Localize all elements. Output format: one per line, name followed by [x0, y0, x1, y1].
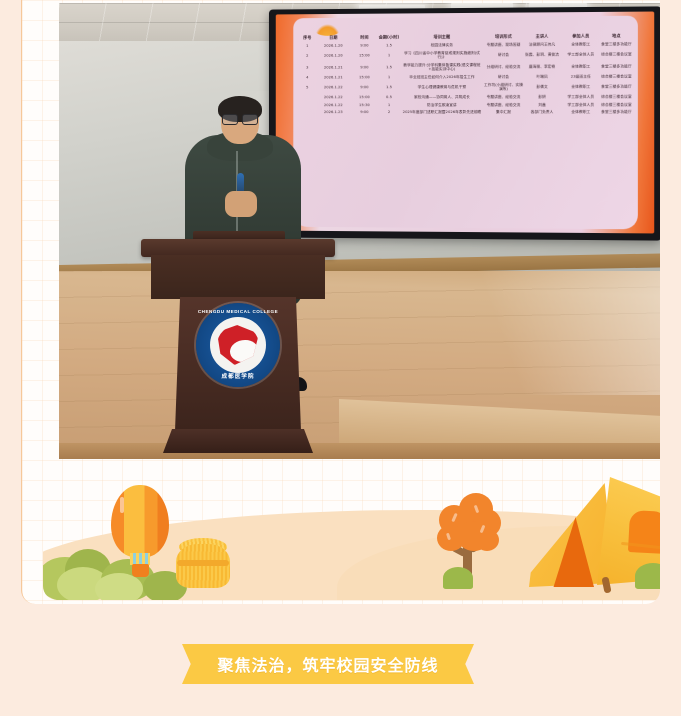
cell-location: 综合楼三楼会议室 [601, 101, 632, 109]
cell-speaker: 各部门负责人 [524, 109, 561, 117]
cell-no: 5 [299, 82, 315, 94]
cell-attendees: 全体教职工 [561, 61, 602, 73]
screen-surface: 序号 日期 时间 会期(小时) 培训主题 培训形式 主讲人 参加人员 地点 [276, 12, 654, 234]
grass-tuft-icon [635, 563, 660, 589]
cell-date: 2026.1.21 [315, 62, 351, 74]
cell-topic: 2025年度部门述职汇报暨2026年表彰先进前瞻 [401, 109, 484, 117]
section-title-block: 聚焦法治，筑牢校园安全防线 PART 1 [0, 604, 681, 716]
cell-date: 2026.1.21 [315, 74, 351, 82]
th-hours: 会期(小时) [378, 33, 401, 42]
content-card: 序号 日期 时间 会期(小时) 培训主题 培训形式 主讲人 参加人员 地点 [21, 0, 660, 604]
podium-mid [151, 255, 325, 299]
cell-form: 专题讲座、经验交流 [483, 101, 523, 109]
cell-attendees: 学工部全体人员 [561, 93, 602, 101]
haystack-body [176, 544, 230, 588]
cell-speaker: 唐海丽、李宏艳 [524, 61, 561, 73]
table-row: 2026.1.23 9:00 2 2025年度部门述职汇报暨2026年表彰先进前… [299, 109, 632, 117]
cell-form: 集中汇报 [483, 109, 523, 117]
cell-speaker: 叶琳凤 [524, 73, 561, 81]
cell-speaker: 张霞、彭玥、黄俊洁 [524, 49, 561, 61]
logo-english-text: CHENGDU MEDICAL COLLEGE [196, 309, 280, 314]
haystack-band [177, 560, 229, 566]
cell-time: 15:30 [351, 101, 377, 109]
cell-time: 9:00 [351, 62, 377, 74]
grass-tuft-icon [443, 567, 473, 589]
podium-base [163, 429, 313, 453]
logo-inner-disc [210, 317, 266, 373]
balloon-basket [132, 564, 149, 577]
training-schedule-table: 序号 日期 时间 会期(小时) 培训主题 培训形式 主讲人 参加人员 地点 [299, 32, 632, 117]
cell-speaker: 刘鑫 [524, 101, 561, 109]
cell-attendees: 全体教职工 [561, 81, 602, 93]
cell-form: 专题讲座、经验交流 [483, 93, 523, 101]
cell-hours: 1.5 [378, 42, 401, 50]
cell-date: 2026.1.22 [315, 94, 351, 102]
th-attendees: 参加人员 [561, 32, 602, 41]
table-row: 3 2026.1.21 9:00 1.5 教学能力提升:分学科集体备课实践(语文… [299, 61, 632, 74]
cell-speaker: 彭妍 [524, 93, 561, 101]
cell-hours: 1.5 [378, 81, 401, 93]
lecture-photo: 序号 日期 时间 会期(小时) 培训主题 培训形式 主讲人 参加人员 地点 [59, 3, 660, 459]
poster-page: 序号 日期 时间 会期(小时) 培训主题 培训形式 主讲人 参加人员 地点 [0, 0, 681, 716]
th-date: 日期 [315, 34, 351, 43]
cell-form: 研讨会 [483, 73, 523, 81]
tree-foliage [475, 529, 499, 551]
cell-attendees: 学工部全体人员 [561, 101, 602, 109]
podium: CHENGDU MEDICAL COLLEGE 成都医学院 [141, 239, 335, 459]
th-no: 序号 [299, 34, 315, 43]
glasses-icon [222, 114, 258, 123]
section-heading: 聚焦法治，筑牢校园安全防线 [182, 644, 474, 684]
cell-location: 综合楼三楼会议室 [601, 93, 632, 101]
cell-hours: 1 [378, 50, 401, 62]
cell-time: 15:00 [351, 74, 377, 82]
th-speaker: 主讲人 [524, 32, 561, 41]
balloon-envelope [111, 485, 169, 557]
cell-speaker: 彭倩文 [524, 81, 561, 93]
cell-time: 9:00 [351, 109, 377, 117]
floor-sheen [460, 271, 660, 395]
cell-topic: 学生心理健康教育与危机干预 [401, 81, 484, 93]
th-location: 地点 [601, 32, 632, 41]
cell-no: 3 [299, 62, 315, 74]
cell-location: 食堂三楼多功能厅 [601, 81, 632, 93]
logo-chinese-text: 成都医学院 [196, 372, 280, 380]
cell-topic: 防治学生欺凌宣讲 [401, 101, 484, 109]
cell-attendees: 全体教职工 [561, 41, 602, 49]
balloon-highlight [120, 497, 124, 513]
hot-air-balloon-icon [111, 485, 169, 581]
logo-white-mark [230, 340, 258, 362]
cell-date: 2026.1.22 [315, 82, 351, 94]
cell-time: 15:00 [351, 50, 377, 62]
cell-form: 研讨会 [483, 49, 523, 61]
cell-time: 9:00 [351, 42, 377, 50]
cell-hours: 1 [378, 74, 401, 82]
table-row: 5 2026.1.22 9:00 1.5 学生心理健康教育与危机干预 工作坊(小… [299, 81, 632, 94]
cell-location: 食堂三楼多功能厅 [601, 41, 632, 49]
cell-attendees: 23级班主任 [561, 73, 602, 81]
cell-hours: 1.5 [378, 62, 401, 74]
table-body: 1 2026.1.20 9:00 1.5 校园法律实务 专题讲座、现场答疑 法律… [299, 41, 632, 117]
cell-form: 专题讲座、现场答疑 [483, 41, 523, 49]
logo-red-mark [217, 325, 259, 365]
cell-topic: 教学能力提升:分学科集体备课实践(语文课程班+技能实训中心) [401, 61, 484, 73]
slide: 序号 日期 时间 会期(小时) 培训主题 培训形式 主讲人 参加人员 地点 [293, 16, 638, 230]
cell-location: 综合楼三楼会议室 [601, 48, 632, 60]
cell-hours: 0.5 [378, 93, 401, 101]
cell-no: 1 [299, 42, 315, 50]
cell-form: 工作坊(小组研讨、实操演练) [483, 81, 523, 93]
cell-form: 分组研讨、经验交流 [483, 61, 523, 73]
cell-no: 2 [299, 50, 315, 62]
cell-location: 食堂三楼多功能厅 [601, 61, 632, 73]
cell-location: 食堂三楼多功能厅 [601, 109, 632, 117]
cell-time: 9:00 [351, 81, 377, 93]
cell-topic: 家校沟通——协同育人、共筑成长 [401, 93, 484, 101]
cell-hours: 2 [378, 109, 401, 117]
cell-date: 2026.1.20 [315, 50, 351, 62]
camping-illustration [43, 463, 660, 600]
haystack-icon [176, 538, 230, 588]
speaker-hands [225, 191, 257, 217]
th-time: 时间 [351, 34, 377, 43]
cell-no: 4 [299, 74, 315, 82]
college-logo: CHENGDU MEDICAL COLLEGE 成都医学院 [196, 303, 280, 387]
cell-topic: 学习《四川省中小学教育惩戒规则实施细则(试行)》 [401, 49, 484, 61]
cell-speaker: 法律顾问王伟凡 [524, 41, 561, 49]
cell-date: 2026.1.20 [315, 42, 351, 50]
cell-time: 15:00 [351, 94, 377, 102]
th-form: 培训形式 [483, 33, 523, 42]
cell-attendees: 全体教职工 [561, 109, 602, 117]
cell-location: 综合楼三楼会议室 [601, 73, 632, 81]
cell-attendees: 学工部全体人员 [561, 49, 602, 61]
cell-hours: 1 [378, 101, 401, 109]
cell-date: 2026.1.23 [315, 109, 351, 117]
projector-screen: 序号 日期 时间 会期(小时) 培训主题 培训形式 主讲人 参加人员 地点 [269, 6, 660, 240]
cell-date: 2026.1.22 [315, 101, 351, 109]
